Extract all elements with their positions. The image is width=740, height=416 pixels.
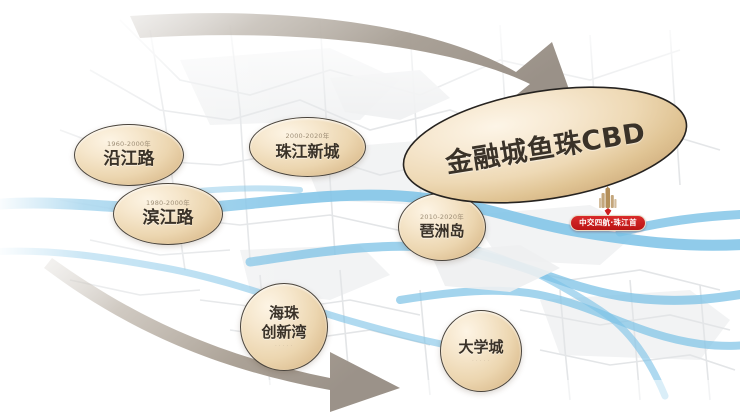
node-binjianglu[interactable]: 1980-2000年 滨江路	[113, 183, 223, 245]
node-title-line2: 创新湾	[261, 324, 306, 341]
node-subtext: · · · · ·	[275, 344, 292, 349]
project-badge[interactable]: 中交四航·珠江首	[570, 215, 646, 231]
node-title: 滨江路	[143, 209, 194, 228]
node-era: 1960-2000年	[107, 141, 151, 148]
node-era: 2010-2020年	[420, 214, 464, 221]
node-era: 1980-2000年	[146, 200, 190, 207]
node-subtext: · · · · ·	[472, 359, 489, 364]
node-daxuecheng[interactable]: 大学城 · · · · ·	[440, 310, 522, 392]
project-marker[interactable]: 中交四航·珠江首	[560, 186, 656, 238]
node-era: 2000-2020年	[286, 133, 330, 140]
node-title: 沿江路	[104, 150, 155, 169]
tower-building-icon	[595, 186, 621, 216]
node-yanjianglu[interactable]: 1960-2000年 沿江路	[74, 124, 184, 186]
node-title: 大学城	[458, 339, 503, 356]
node-title: 珠江新城	[275, 143, 339, 161]
node-layer: 1960-2000年 沿江路 1980-2000年 滨江路 2000-2020年…	[0, 0, 740, 416]
node-title: 海珠	[269, 305, 299, 322]
diagram-canvas: 1960-2000年 沿江路 1980-2000年 滨江路 2000-2020年…	[0, 0, 740, 416]
node-zhujiangxincheng[interactable]: 2000-2020年 珠江新城	[249, 117, 366, 177]
node-title: 琶洲岛	[419, 223, 464, 240]
node-haizhu-chuangxinwan[interactable]: 海珠 创新湾 · · · · ·	[240, 283, 328, 371]
